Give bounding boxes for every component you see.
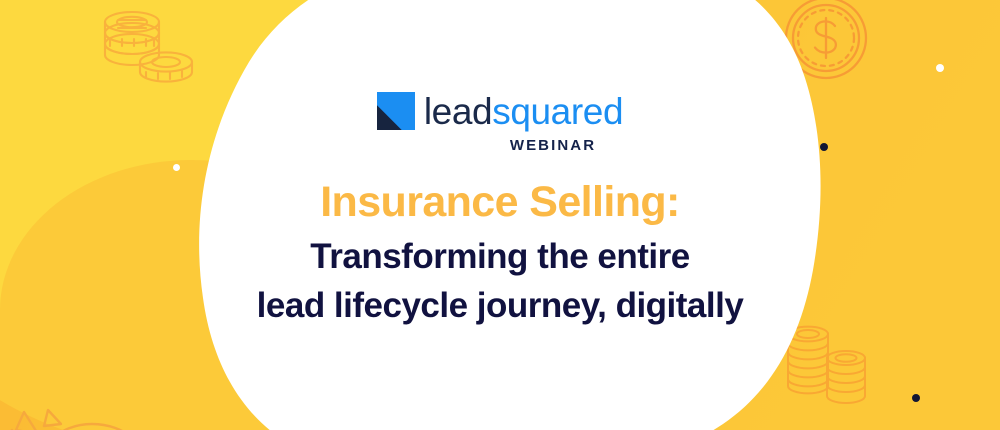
- logo-row: leadsquared: [377, 92, 623, 130]
- banner-subtitle-line-1: Transforming the entire: [310, 234, 689, 281]
- brand-word-lead: lead: [424, 91, 492, 132]
- leadsquared-logo-icon: [377, 92, 415, 130]
- brand-lockup: leadsquared WEBINAR: [377, 92, 623, 154]
- banner-headline: Insurance Selling:: [320, 178, 680, 226]
- brand-word-squared: squared: [492, 91, 623, 132]
- banner-content: leadsquared WEBINAR Insurance Selling: T…: [0, 0, 1000, 430]
- banner-subtitle-line-2: lead lifecycle journey, digitally: [257, 283, 744, 330]
- webinar-banner: leadsquared WEBINAR Insurance Selling: T…: [0, 0, 1000, 430]
- brand-wordmark: leadsquared: [424, 93, 623, 130]
- webinar-kicker: WEBINAR: [510, 137, 596, 154]
